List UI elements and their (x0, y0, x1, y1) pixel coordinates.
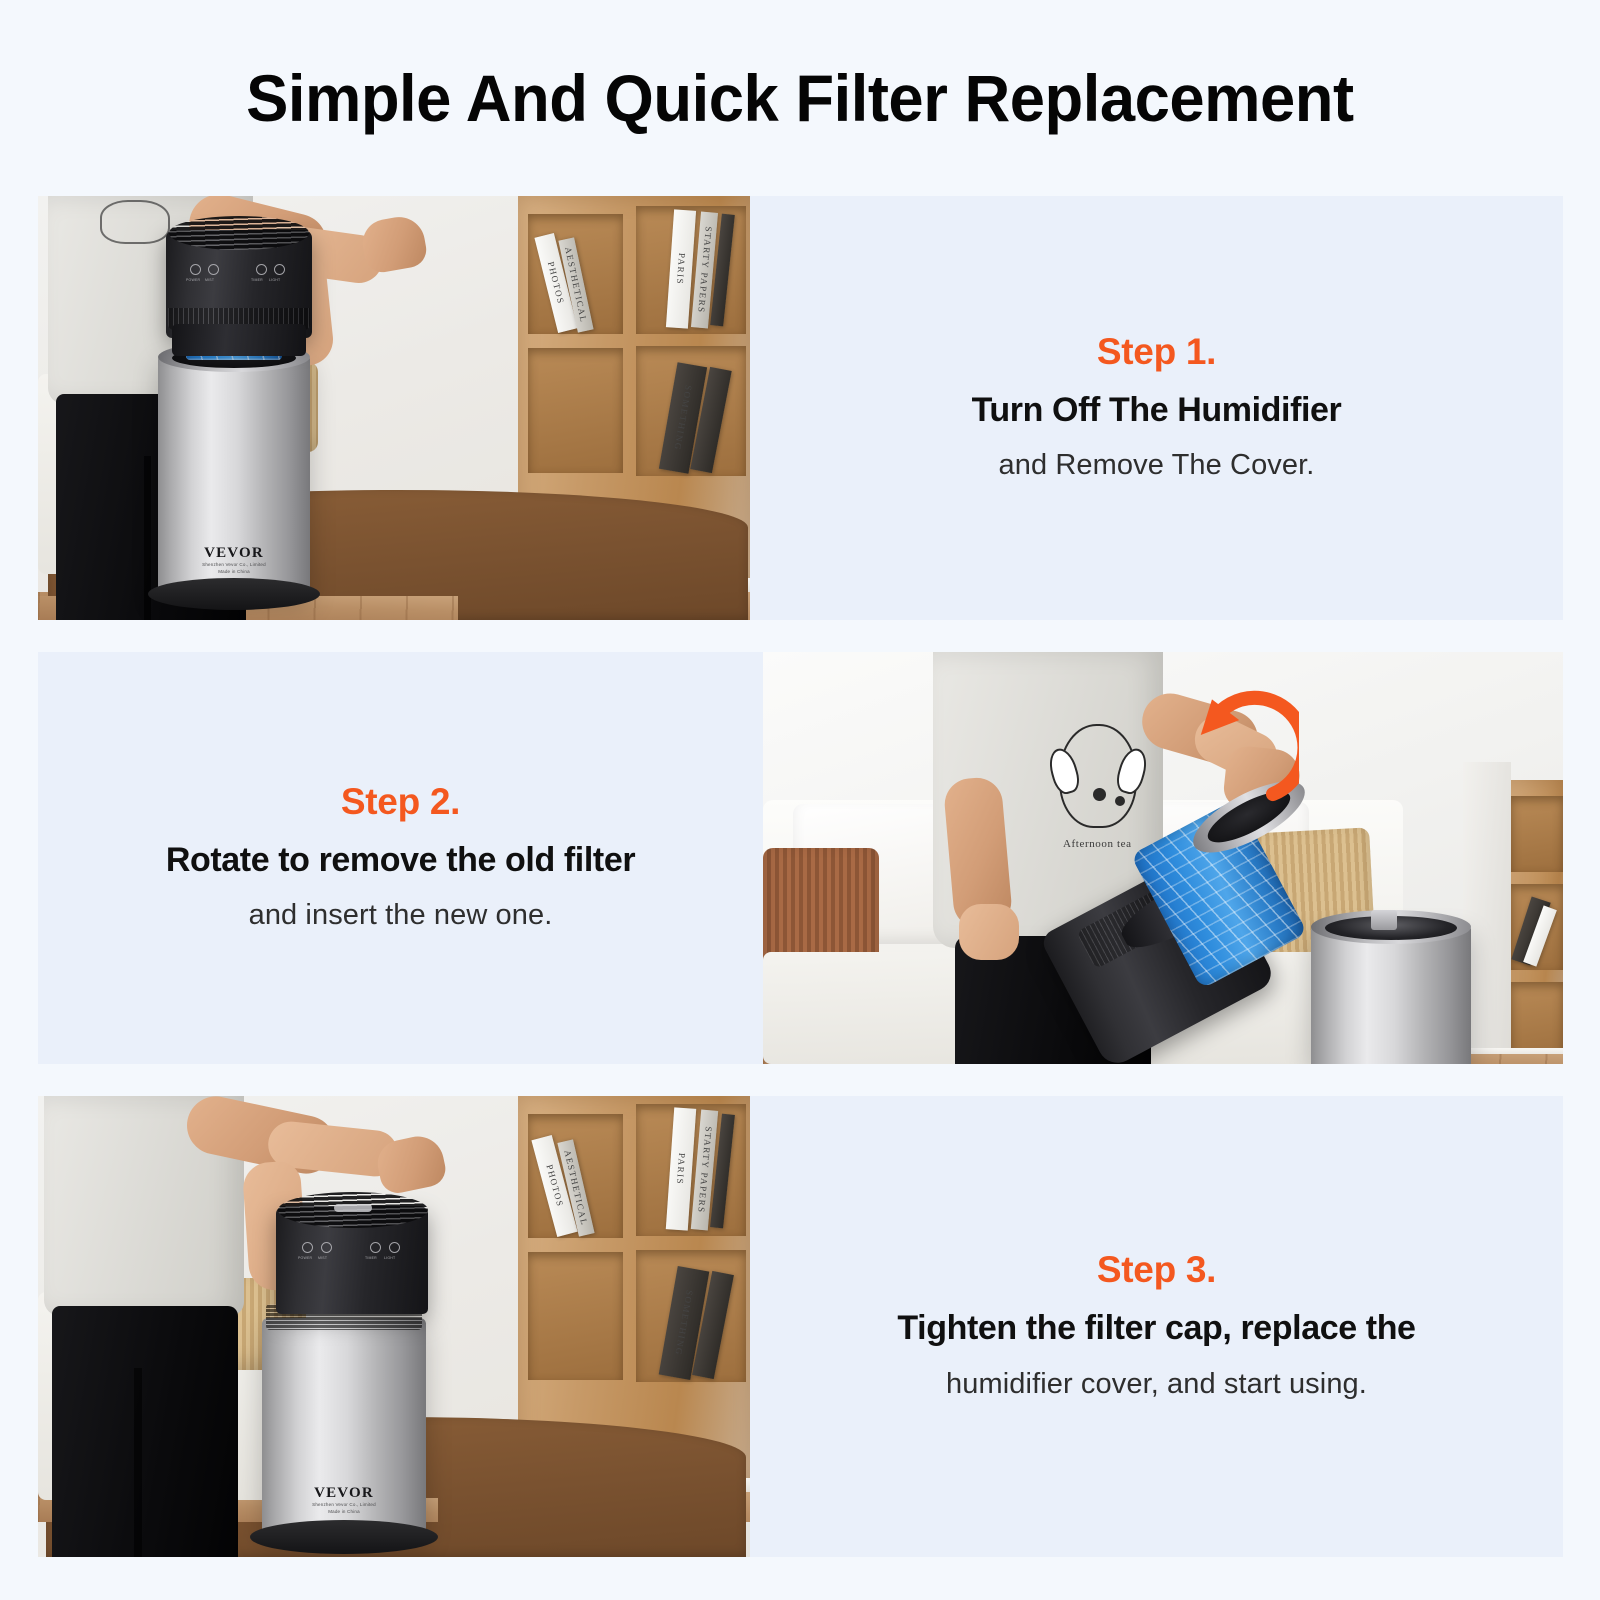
tshirt-print (100, 200, 170, 244)
timer-icon[interactable] (370, 1242, 381, 1253)
step-2-text-panel: Step 2. Rotate to remove the old filter … (38, 652, 763, 1064)
step-row-3: PARIS STARTY PAPERS PHOTOS AESTHETICAL S… (38, 1096, 1563, 1557)
person-pants-split (134, 1368, 142, 1557)
timer-icon[interactable] (256, 264, 267, 275)
step-1-main-text: Turn Off The Humidifier (972, 389, 1342, 432)
step-1-sub-text: and Remove The Cover. (999, 447, 1315, 485)
power-icon[interactable] (302, 1242, 313, 1253)
humidity-icon-label: MIST (318, 1256, 327, 1260)
power-icon-label: POWER (298, 1256, 312, 1260)
step-3-main-text: Tighten the filter cap, replace the (897, 1307, 1415, 1350)
scene-room-2: Afternoon tea (763, 652, 1563, 1064)
step-row-1: PARIS STARTY PAPERS PHOTOS AESTHETICAL S… (38, 196, 1563, 620)
step-1-label: Step 1. (1097, 331, 1216, 373)
scene-room-1: PARIS STARTY PAPERS PHOTOS AESTHETICAL S… (38, 196, 750, 620)
rotation-arrow-icon (1169, 690, 1299, 820)
timer-icon-label: TIMER (365, 1256, 377, 1260)
brand-logo: VEVOR Shenzhen Vevor Co., Limited Made i… (202, 544, 266, 576)
light-icon-label: LIGHT (384, 1256, 395, 1260)
step-3-label: Step 3. (1097, 1249, 1216, 1291)
step-2-photo: Afternoon tea (763, 652, 1563, 1064)
step-2-sub-text: and insert the new one. (249, 897, 553, 935)
cover-handle-slot (334, 1204, 372, 1212)
tshirt-print-text: Afternoon tea (1063, 838, 1132, 850)
power-icon[interactable] (190, 264, 201, 275)
humidity-icon[interactable] (208, 264, 219, 275)
step-1-text-panel: Step 1. Turn Off The Humidifier and Remo… (750, 196, 1563, 620)
step-row-2: Step 2. Rotate to remove the old filter … (38, 652, 1563, 1064)
step-3-sub-text: humidifier cover, and start using. (946, 1366, 1367, 1404)
humidity-icon[interactable] (321, 1242, 332, 1253)
light-icon-label: LIGHT (269, 278, 280, 282)
humidifier-base (250, 1520, 438, 1554)
bookshelf (1503, 780, 1563, 1064)
light-icon[interactable] (389, 1242, 400, 1253)
step-2-label: Step 2. (341, 781, 460, 823)
step-3-text-panel: Step 3. Tighten the filter cap, replace … (750, 1096, 1563, 1557)
humidifier-body (1311, 924, 1471, 1064)
scene-room-3: PARIS STARTY PAPERS PHOTOS AESTHETICAL S… (38, 1096, 750, 1557)
humidity-icon-label: MIST (205, 278, 214, 282)
page-title: Simple And Quick Filter Replacement (246, 60, 1354, 136)
page-header: Simple And Quick Filter Replacement (0, 0, 1600, 196)
cover-lower-collar (172, 324, 306, 356)
dog-eye-icon (1115, 796, 1125, 806)
person-hand-left (959, 904, 1019, 960)
cover-top-grill (169, 216, 309, 250)
power-icon-label: POWER (186, 278, 200, 282)
step-1-photo: PARIS STARTY PAPERS PHOTOS AESTHETICAL S… (38, 196, 750, 620)
step-3-photo: PARIS STARTY PAPERS PHOTOS AESTHETICAL S… (38, 1096, 750, 1557)
timer-icon-label: TIMER (251, 278, 263, 282)
humidifier-base (148, 578, 320, 610)
brand-logo: VEVOR Shenzhen Vevor Co., Limited Made i… (312, 1484, 376, 1516)
step-2-main-text: Rotate to remove the old filter (166, 839, 635, 882)
person-pants (52, 1306, 238, 1557)
humidifier-float-post (1371, 910, 1397, 930)
light-icon[interactable] (274, 264, 285, 275)
dog-eye-icon (1093, 788, 1106, 801)
